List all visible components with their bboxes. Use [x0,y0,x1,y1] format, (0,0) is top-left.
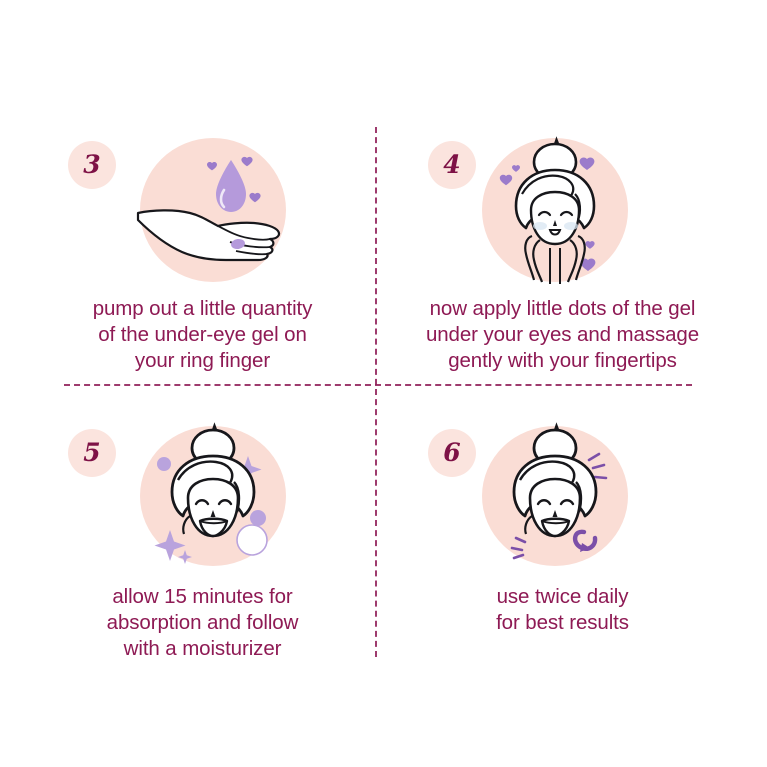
step-card-5: 5 [26,412,379,692]
step-4-caption: now apply little dots of the gel under y… [386,296,739,375]
hand-with-gel-drop-illustration [130,132,296,292]
step-5-number: 5 [83,440,100,465]
step-card-6: 6 [386,412,739,692]
step-card-3: 3 pump out a little quantity of the und [26,124,379,404]
step-4-badge: 4 [428,141,476,189]
step-6-badge: 6 [428,429,476,477]
step-4-number: 4 [443,152,460,177]
woman-with-sparkles-illustration [130,420,296,580]
step-5-badge: 5 [68,429,116,477]
step-3-badge: 3 [68,141,116,189]
skincare-steps-infographic: 3 pump out a little quantity of the und [0,0,767,767]
woman-applying-gel-illustration [472,132,638,292]
step-6-caption: use twice daily for best results [386,584,739,636]
step-5-caption: allow 15 minutes for absorption and foll… [26,584,379,663]
step-6-number: 6 [443,440,460,465]
step-3-number: 3 [83,152,100,177]
woman-with-repeat-arrow-illustration [472,420,638,580]
step-3-caption: pump out a little quantity of the under-… [26,296,379,375]
step-card-4: 4 [386,124,739,404]
